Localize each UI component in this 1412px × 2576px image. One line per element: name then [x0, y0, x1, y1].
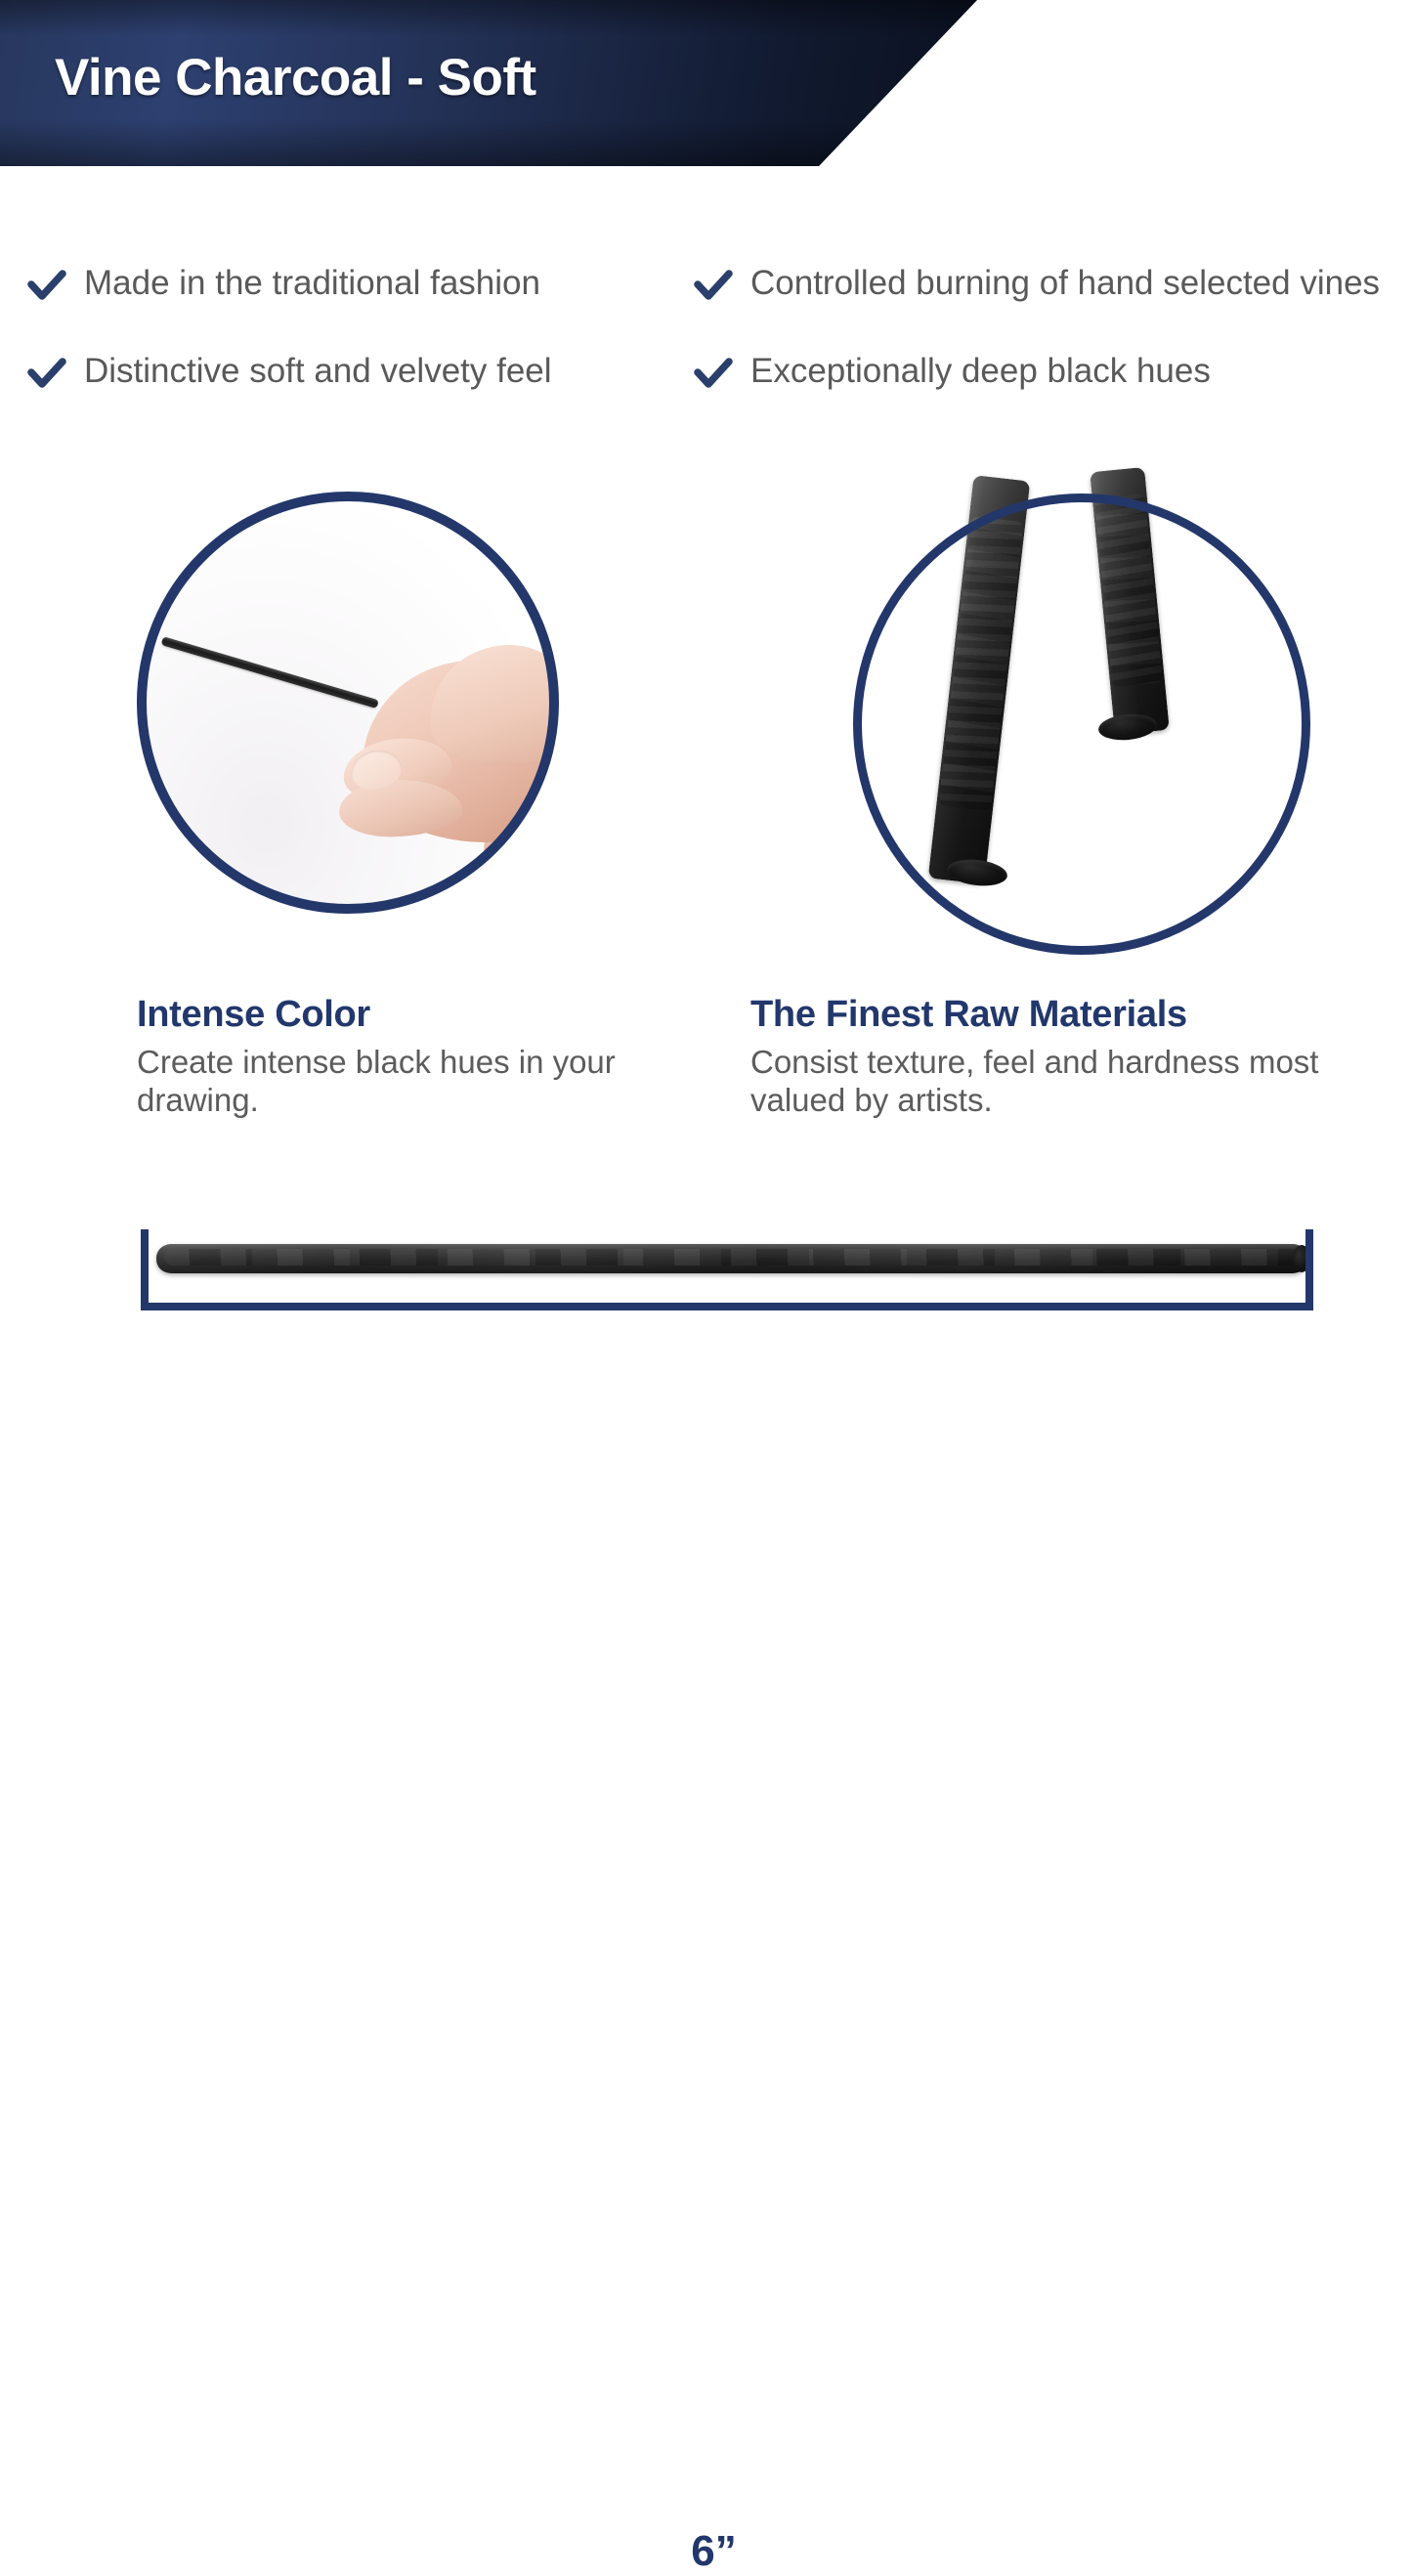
- highlight-caption-raw-materials: The Finest Raw Materials Consist texture…: [750, 995, 1376, 1120]
- hand-drawing-with-charcoal-photo: [146, 500, 550, 905]
- check-icon: [27, 356, 66, 393]
- charcoal-stick-left-end: [946, 857, 1009, 889]
- charcoal-stick-right: [1090, 467, 1170, 735]
- product-infographic: Vine Charcoal - Soft Made in the traditi…: [0, 0, 1412, 1383]
- highlight-title: The Finest Raw Materials: [750, 995, 1376, 1036]
- size-measurement: 6”: [0, 1222, 1412, 1383]
- header-banner: Vine Charcoal - Soft: [0, 0, 1412, 166]
- highlight-description: Create intense black hues in your drawin…: [137, 1044, 684, 1120]
- highlight-title: Intense Color: [137, 995, 684, 1036]
- measurement-bracket: [0, 1222, 1412, 1339]
- feature-column-right: Controlled burning of hand selected vine…: [694, 262, 1412, 438]
- charcoal-stick-left: [928, 475, 1031, 884]
- size-label: 6”: [0, 2527, 1412, 2576]
- full-length-charcoal-stick-photo: [156, 1240, 1307, 1277]
- highlight-description: Consist texture, feel and hardness most …: [750, 1044, 1376, 1120]
- two-charcoal-sticks-closeup-photo: [853, 440, 1310, 967]
- charcoal-stick-end-cap: [1293, 1245, 1310, 1272]
- check-icon: [27, 268, 66, 305]
- highlight-caption-intense-color: Intense Color Create intense black hues …: [137, 995, 684, 1120]
- page-title: Vine Charcoal - Soft: [55, 52, 536, 104]
- highlight-image-intense-color: [137, 492, 559, 914]
- feature-column-left: Made in the traditional fashion Distinct…: [27, 262, 672, 438]
- feature-item: Controlled burning of hand selected vine…: [694, 262, 1412, 305]
- feature-label: Made in the traditional fashion: [84, 262, 540, 304]
- feature-item: Exceptionally deep black hues: [694, 350, 1412, 393]
- hand-illustration: [337, 633, 550, 905]
- size-label-text: 6”: [691, 2527, 736, 2575]
- check-icon: [694, 356, 733, 393]
- feature-item: Distinctive soft and velvety feel: [27, 350, 672, 393]
- feature-item: Made in the traditional fashion: [27, 262, 672, 305]
- check-icon: [694, 268, 733, 305]
- charcoal-stick-right-end: [1097, 711, 1158, 743]
- feature-label: Exceptionally deep black hues: [750, 350, 1211, 392]
- highlight-image-raw-materials: [853, 494, 1310, 955]
- feature-label: Distinctive soft and velvety feel: [84, 350, 552, 392]
- charcoal-stick-body: [156, 1244, 1307, 1273]
- feature-label: Controlled burning of hand selected vine…: [750, 262, 1380, 304]
